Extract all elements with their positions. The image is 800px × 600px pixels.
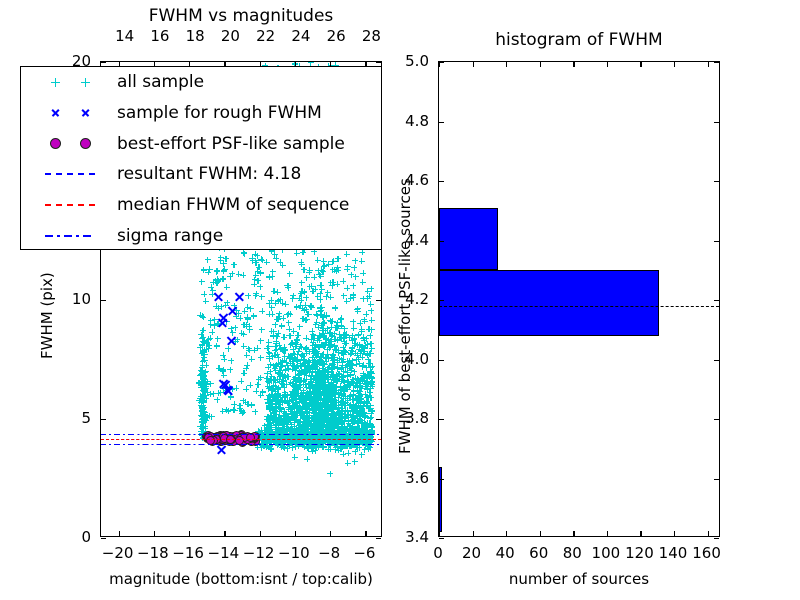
scatter-plus [362,342,368,348]
y-tick [101,62,106,63]
hist-x-tick [607,531,608,536]
hist-y-tick-right [714,479,719,480]
scatter-plus [326,386,332,392]
scatter-cross [223,385,234,396]
hist-y-tick [439,181,444,182]
scatter-plus [237,315,243,321]
scatter-plus [338,400,344,406]
figure-canvas: FWHM vs magnitudes magnitude (bottom:isn… [0,0,800,600]
legend-item-label: sigma range [117,226,223,246]
legend-plus-icon [51,78,60,87]
scatter-plus [294,304,300,310]
legend-dashed-line-icon [45,204,95,206]
hist-x-tick-label: 120 [625,544,654,562]
hist-x-tick-top [573,62,574,67]
scatter-plus [205,414,211,420]
x-tick [154,531,155,536]
scatter-plus [350,319,356,325]
scatter-plus [249,402,255,408]
scatter-plus [280,300,286,306]
scatter-plus [290,405,296,411]
scatter-plus [357,389,363,395]
scatter-plus [197,344,203,350]
scatter-plus [368,410,374,416]
scatter-plus [204,341,210,347]
right-plot-area [439,62,719,536]
scatter-plus [269,311,275,317]
scatter-plus [324,347,330,353]
scatter-plus [204,379,210,385]
scatter-plus [298,297,304,303]
y-tick-right [376,300,381,301]
x-tick-label: −10 [278,544,310,562]
legend-item[interactable]: sample for rough FWHM [21,98,381,129]
scatter-plus [339,335,345,341]
hist-x-tick [674,531,675,536]
x-tick [295,531,296,536]
legend-item[interactable]: best-effort PSF-like sample [21,128,381,159]
hist-y-tick-label: 4.4 [405,231,429,249]
scatter-plus [198,332,204,338]
scatter-plus [209,329,215,335]
scatter-plus [265,383,271,389]
scatter-plus [361,334,367,340]
scatter-plus [238,378,244,384]
hist-x-tick-label: 60 [529,544,548,562]
hist-x-tick-top [607,62,608,67]
hist-y-tick-right [714,360,719,361]
scatter-plus [297,324,303,330]
scatter-plus [360,364,366,370]
scatter-plus [326,406,332,412]
scatter-plus [308,304,314,310]
scatter-plus [218,255,224,261]
scatter-plus [279,380,285,386]
scatter-plus [309,448,315,454]
scatter-cross [226,335,237,346]
scatter-plus [290,296,296,302]
hist-x-tick [473,531,474,536]
scatter-plus [309,372,315,378]
scatter-plus [215,336,221,342]
scatter-plus [294,250,300,256]
scatter-plus [245,293,251,299]
hist-x-tick-label: 140 [659,544,688,562]
scatter-plus [220,368,226,374]
scatter-plus [287,391,293,397]
scatter-plus [252,409,258,415]
scatter-plus [286,326,292,332]
hist-y-tick-right [714,419,719,420]
hist-x-tick [439,531,440,536]
x-tick [224,531,225,536]
scatter-plus [312,348,318,354]
scatter-plus [201,291,207,297]
scatter-plus [272,322,278,328]
scatter-plus [246,323,252,329]
scatter-plus [341,293,347,299]
scatter-plus [301,394,307,400]
scatter-plus [285,366,291,372]
x-tick-label: −14 [208,544,240,562]
scatter-plus [274,333,280,339]
legend-item[interactable]: sigma range [21,220,381,251]
hist-y-tick-label: 3.8 [405,409,429,427]
scatter-plus [344,251,350,257]
scatter-plus [366,361,372,367]
scatter-plus [205,269,211,275]
scatter-plus [333,325,339,331]
scatter-plus [298,291,304,297]
scatter-plus [301,357,307,363]
calib-tick-label: 26 [327,27,346,45]
scatter-plus [344,413,350,419]
scatter-plus [250,258,256,264]
scatter-plus [258,338,264,344]
legend-circle-icon [80,138,91,149]
legend-circle-icon [50,138,61,149]
scatter-plus [278,346,284,352]
scatter-plus [336,373,342,379]
scatter-plus [284,312,290,318]
scatter-plus [323,355,329,361]
scatter-plus [351,325,357,331]
calib-tick-label: 28 [362,27,381,45]
hist-y-tick [439,419,444,420]
scatter-plus [345,407,351,413]
hist-y-tick-label: 3.4 [405,528,429,546]
scatter-plus [299,280,305,286]
y-tick-label: 5 [81,409,91,427]
scatter-plus [351,265,357,271]
scatter-plus [327,471,333,477]
scatter-plus [330,318,336,324]
scatter-plus [328,412,334,418]
scatter-plus [271,288,277,294]
legend-item-label: resultant FWHM: 4.18 [117,164,301,184]
scatter-plus [294,363,300,369]
scatter-plus [345,373,351,379]
scatter-plus [368,286,374,292]
hist-x-tick-top [640,62,641,67]
hist-x-tick-label: 100 [592,544,621,562]
hist-x-tick-label: 0 [433,544,443,562]
hist-y-tick [439,538,444,539]
hist-y-tick-right [714,122,719,123]
scatter-plus [225,346,231,352]
scatter-plus [266,339,272,345]
scatter-plus [307,284,313,290]
scatter-plus [252,251,258,257]
scatter-plus [274,399,280,405]
scatter-plus [369,317,375,323]
scatter-plus [340,451,346,457]
scatter-plus [210,279,216,285]
scatter-plus [277,371,283,377]
scatter-plus [286,333,292,339]
legend-box[interactable]: all samplesample for rough FWHMbest-effo… [20,66,382,250]
hist-resultant-fwhm-line [439,306,719,307]
x-tick-label: −6 [353,544,375,562]
scatter-plus [315,257,321,263]
hist-y-tick [439,360,444,361]
scatter-plus [255,345,261,351]
left-y-axis-label: FWHM (pix) [38,272,56,359]
scatter-plus [332,391,338,397]
y-tick [101,300,106,301]
scatter-plus [258,355,264,361]
scatter-plus [340,278,346,284]
hist-x-tick-label: 20 [462,544,481,562]
calib-tick-label: 16 [150,27,169,45]
scatter-plus [229,271,235,277]
scatter-plus [329,283,335,289]
hline-sigma-lower [101,444,381,445]
y-tick-label: 0 [81,528,91,546]
x-tick [260,531,261,536]
scatter-plus [345,450,351,456]
scatter-plus [243,386,249,392]
scatter-plus [259,327,265,333]
hist-x-tick [708,531,709,536]
hist-y-tick [439,62,444,63]
scatter-plus [319,287,325,293]
hline-median-fhwm-of-sequence [101,439,381,440]
hist-x-tick-top [473,62,474,67]
scatter-plus [227,367,233,373]
scatter-plus [214,269,220,275]
hist-y-tick-label: 4.6 [405,171,429,189]
hist-y-tick-label: 5.0 [405,52,429,70]
scatter-cross [213,291,224,302]
scatter-plus [208,391,214,397]
scatter-plus [228,358,234,364]
hist-x-tick-top [506,62,507,67]
scatter-plus [320,370,326,376]
histogram-bar[interactable] [439,208,498,270]
scatter-cross [216,444,227,455]
scatter-plus [256,376,262,382]
scatter-plus [355,308,361,314]
hist-y-tick-label: 4.8 [405,112,429,130]
calib-tick-label: 22 [256,27,275,45]
hist-y-tick-right [714,181,719,182]
scatter-plus [276,311,282,317]
scatter-plus [205,257,211,263]
scatter-plus [281,415,287,421]
scatter-plus [332,384,338,390]
scatter-plus [286,320,292,326]
scatter-plus [349,345,355,351]
legend-item[interactable]: resultant FWHM: 4.18 [21,159,381,190]
scatter-plus [301,364,307,370]
scatter-plus [368,301,374,307]
legend-item[interactable]: median FHWM of sequence [21,190,381,221]
scatter-plus [369,327,375,333]
scatter-plus [359,406,365,412]
hist-x-tick-top [540,62,541,67]
calib-tick-label: 14 [115,27,134,45]
scatter-plus [368,341,374,347]
hist-x-tick [640,531,641,536]
scatter-plus [332,305,338,311]
scatter-plus [352,459,358,465]
hist-y-tick [439,300,444,301]
hist-y-tick-right [714,62,719,63]
y-tick-right [376,62,381,63]
y-tick-right [376,419,381,420]
scatter-plus [215,390,221,396]
calib-tick-label: 20 [221,27,240,45]
scatter-plus [362,318,368,324]
x-tick-label: −18 [137,544,169,562]
histogram-bar[interactable] [439,467,442,532]
scatter-plus [203,298,209,304]
hist-x-tick-label: 80 [563,544,582,562]
scatter-plus [256,264,262,270]
legend-dashed-line-icon [45,173,95,175]
scatter-plus [342,386,348,392]
scatter-plus [344,298,350,304]
left-chart-title: FWHM vs magnitudes [100,6,382,26]
scatter-plus [200,314,206,320]
scatter-plus [308,392,314,398]
x-tick-label: −20 [102,544,134,562]
scatter-plus [353,274,359,280]
scatter-plus [298,259,304,265]
scatter-plus [287,271,293,277]
legend-item[interactable]: all sample [21,67,381,98]
scatter-plus [297,419,303,425]
scatter-plus [240,272,246,278]
hist-y-tick-right [714,300,719,301]
y-tick-label: 10 [72,290,91,308]
scatter-plus [365,296,371,302]
scatter-plus [285,285,291,291]
hist-y-tick-right [714,241,719,242]
y-tick [101,538,106,539]
scatter-plus [360,378,366,384]
scatter-plus [237,405,243,411]
scatter-plus [214,397,220,403]
scatter-plus [303,335,309,341]
scatter-plus [304,456,310,462]
scatter-plus [362,391,368,397]
scatter-plus [353,361,359,367]
scatter-plus [296,372,302,378]
scatter-plus [223,256,229,262]
scatter-plus [329,371,335,377]
scatter-plus [248,306,254,312]
scatter-plus [276,361,282,367]
scatter-plus [286,356,292,362]
scatter-plus [314,319,320,325]
scatter-plus [362,414,368,420]
scatter-plus [266,274,272,280]
legend-item-label: all sample [117,72,204,92]
hist-y-tick-label: 3.6 [405,469,429,487]
scatter-plus [241,343,247,349]
scatter-plus [314,420,320,426]
scatter-plus [244,352,250,358]
x-tick [330,531,331,536]
scatter-plus [369,379,375,385]
hist-y-tick [439,122,444,123]
hist-x-tick-label: 160 [692,544,721,562]
scatter-plus [292,454,298,460]
scatter-plus [315,294,321,300]
scatter-plus [264,345,270,351]
hist-x-tick [506,531,507,536]
scatter-plus [253,388,259,394]
scatter-plus [277,259,283,265]
scatter-plus [338,317,344,323]
scatter-plus [200,425,206,431]
scatter-plus [352,375,358,381]
hist-x-tick-top [708,62,709,67]
scatter-plus [331,267,337,273]
scatter-plus [316,394,322,400]
scatter-plus [351,336,357,342]
hist-y-tick-right [714,538,719,539]
scatter-plus [344,285,350,291]
scatter-plus [359,452,365,458]
scatter-plus [297,384,303,390]
scatter-plus [270,354,276,360]
scatter-plus [345,460,351,466]
scatter-plus [198,367,204,373]
x-tick-label: −16 [172,544,204,562]
hist-y-tick-label: 4.2 [405,290,429,308]
scatter-plus [293,339,299,345]
legend-item-label: median FHWM of sequence [117,195,349,215]
scatter-plus [339,365,345,371]
hist-y-tick [439,241,444,242]
legend-item-label: best-effort PSF-like sample [117,134,345,154]
scatter-plus [306,311,312,317]
scatter-plus [269,305,275,311]
scatter-plus [243,399,249,405]
scatter-plus [307,267,313,273]
scatter-plus [329,259,335,265]
scatter-plus [368,350,374,356]
x-tick [189,531,190,536]
x-tick [119,531,120,536]
left-x-axis-label: magnitude (bottom:isnt / top:calib) [100,570,382,588]
scatter-plus [266,393,272,399]
hist-x-tick [573,531,574,536]
scatter-plus [311,333,317,339]
scatter-plus [200,358,206,364]
scatter-plus [359,326,365,332]
x-tick [365,531,366,536]
scatter-plus [322,328,328,334]
scatter-plus [302,405,308,411]
y-tick-right [376,538,381,539]
scatter-plus [214,343,220,349]
legend-plus-icon [81,78,90,87]
scatter-plus [360,279,366,285]
scatter-plus [259,294,265,300]
scatter-plus [251,313,257,319]
histogram-bar[interactable] [439,270,659,335]
calib-tick-label: 24 [291,27,310,45]
x-tick-label: −12 [243,544,275,562]
scatter-plus [221,356,227,362]
calib-tick-label: 18 [186,27,205,45]
histogram-of-fwhm-axes[interactable] [438,61,720,537]
scatter-plus [279,444,285,450]
